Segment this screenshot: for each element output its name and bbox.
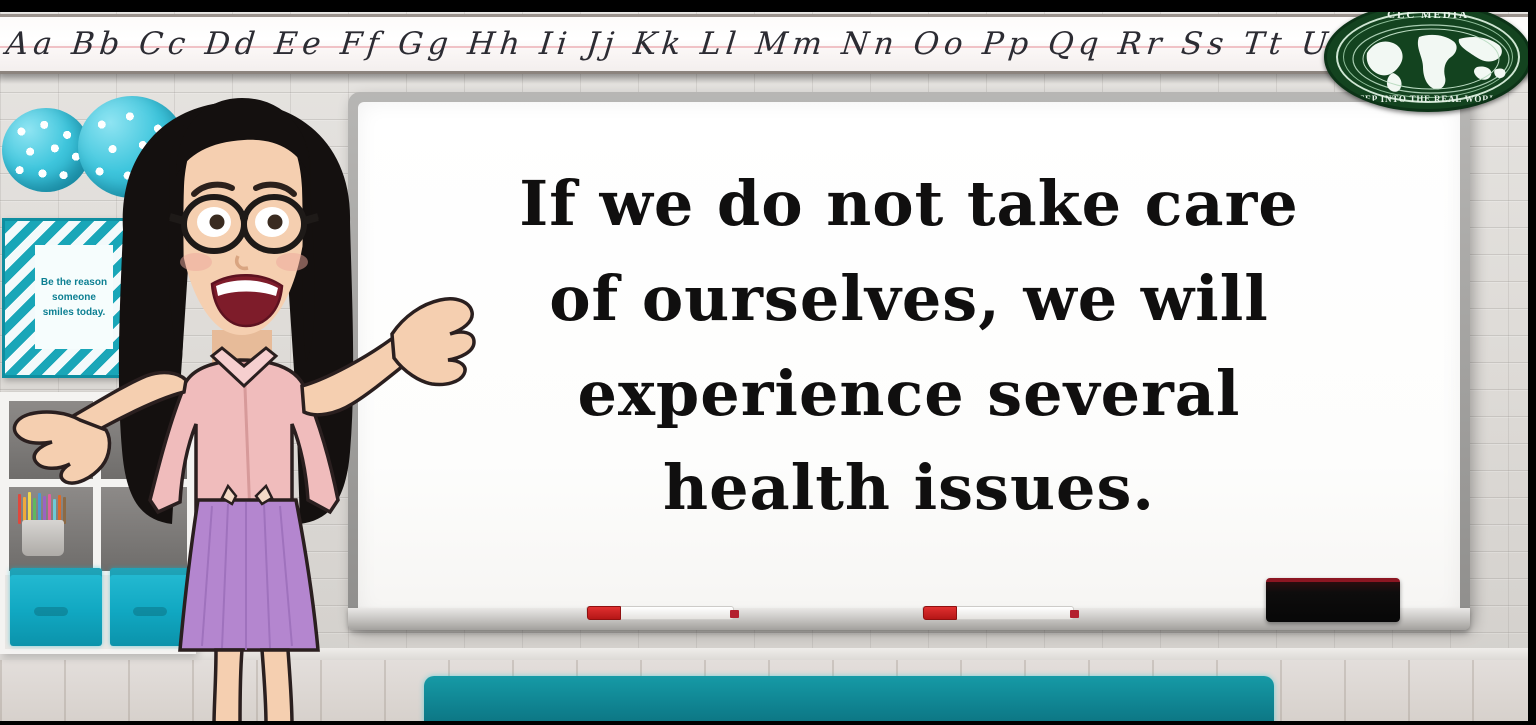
slide-canvas: Be the reason someone smiles today. If w… — [0, 0, 1536, 725]
marker-tip-icon — [730, 610, 739, 618]
marker-cap-icon — [587, 606, 621, 620]
cursive-alphabet-border: Aa Bb Cc Dd Ee Ff Gg Hh Ii Jj Kk Ll Mm N… — [0, 14, 1536, 74]
clc-media-logo: CLC MEDIA STEP INTO THE REAL WORLD — [1324, 2, 1532, 112]
whiteboard-line-3: experience several — [391, 347, 1427, 442]
whiteboard-line-2: of ourselves, we will — [391, 252, 1427, 347]
alphabet-strip-shadow — [0, 74, 1536, 84]
letterbox-bottom — [0, 721, 1536, 725]
whiteboard-message: If we do not take care of ourselves, we … — [391, 157, 1427, 536]
pencil-cup — [22, 520, 64, 556]
letterbox-top — [0, 0, 1536, 12]
whiteboard-line-1: If we do not take care — [391, 157, 1427, 252]
whiteboard-surface: If we do not take care of ourselves, we … — [358, 102, 1460, 617]
shelf-cubby-mid-right — [97, 483, 191, 575]
teal-area-rug — [424, 676, 1274, 725]
letterbox-right — [1528, 0, 1536, 725]
red-whiteboard-marker-right — [922, 606, 1074, 620]
red-whiteboard-marker-left — [586, 606, 734, 620]
whiteboard-eraser — [1266, 578, 1400, 622]
whiteboard-line-4: health issues. — [391, 441, 1427, 536]
marker-tip-icon — [1070, 610, 1079, 618]
logo-bottom-text: STEP INTO THE REAL WORLD — [1327, 94, 1529, 104]
poster-text: Be the reason someone smiles today. — [39, 275, 109, 320]
cursive-alphabet-text: Aa Bb Cc Dd Ee Ff Gg Hh Ii Jj Kk Ll Mm N… — [0, 26, 1507, 62]
teal-polka-dot-lantern-2 — [78, 96, 186, 198]
teal-polka-dot-lantern-3 — [182, 102, 280, 196]
shelf-cubby-top-right — [97, 397, 191, 483]
globe-icon — [1349, 23, 1513, 95]
whiteboard: If we do not take care of ourselves, we … — [348, 92, 1470, 627]
teal-polka-dot-lantern-1 — [2, 108, 90, 192]
motivational-poster: Be the reason someone smiles today. — [2, 218, 130, 378]
colored-pencils — [18, 490, 70, 524]
teal-storage-bin-right — [110, 568, 200, 646]
marker-cap-icon — [923, 606, 957, 620]
teal-storage-bin-left — [10, 568, 102, 646]
shelf-cubby-top-left — [5, 397, 97, 483]
poster-text-box: Be the reason someone smiles today. — [35, 245, 113, 349]
